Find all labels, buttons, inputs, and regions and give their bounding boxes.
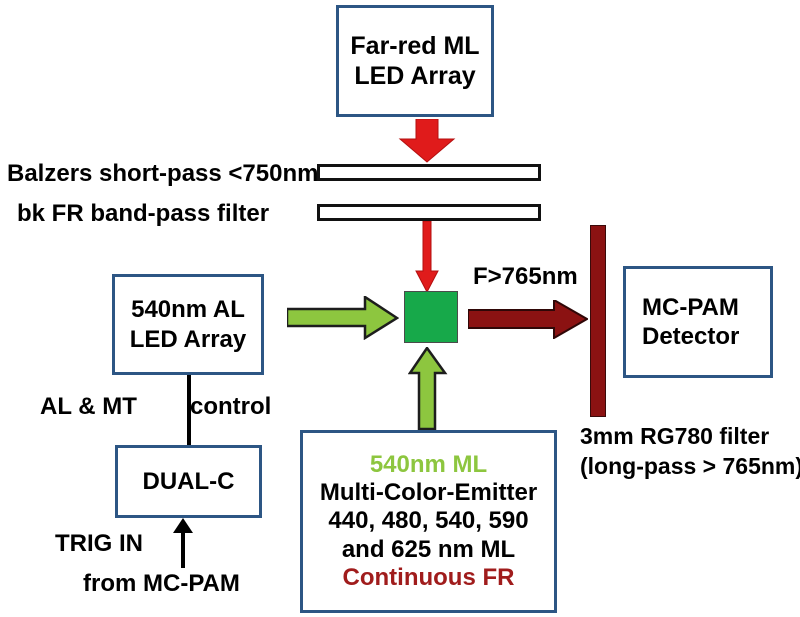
box-far-red-led-array-line2: LED Array: [354, 61, 475, 92]
box-multi-color-emitter-line3: 440, 480, 540, 590: [328, 507, 528, 535]
box-multi-color-emitter-line5: Continuous FR: [343, 564, 515, 592]
label-rg780-filter: 3mm RG780 filter (long-pass > 765nm): [580, 422, 800, 482]
box-multi-color-emitter: 540nm ML Multi-Color-Emitter 440, 480, 5…: [300, 430, 557, 613]
label-rg780-filter-line2: (long-pass > 765nm): [580, 452, 800, 482]
box-mc-pam-detector: MC-PAM Detector: [623, 266, 773, 378]
far-red-excitation-arrow-icon: [398, 119, 456, 163]
label-bk-fr-band-pass: bk FR band-pass filter: [17, 200, 269, 228]
far-red-filtered-arrow-icon: [414, 221, 440, 293]
box-far-red-led-array-line1: Far-red ML: [350, 31, 479, 62]
label-from-mc-pam: from MC-PAM: [83, 570, 240, 598]
multicolor-ml-arrow-icon: [408, 347, 448, 431]
filter-bar-bk-fr-band-pass: [317, 204, 541, 221]
box-far-red-led-array: Far-red ML LED Array: [336, 5, 494, 117]
box-mc-pam-detector-line2: Detector: [642, 322, 739, 351]
actinic-light-arrow-icon: [287, 296, 399, 340]
diagram-canvas: Far-red ML LED Array Balzers short-pass …: [0, 0, 800, 617]
label-rg780-filter-line1: 3mm RG780 filter: [580, 422, 800, 452]
sample-green-square: [404, 291, 458, 343]
label-f-765nm: F>765nm: [473, 263, 578, 291]
box-multi-color-emitter-line4: and 625 nm ML: [342, 536, 515, 564]
trigger-in-arrow-icon: [172, 518, 194, 568]
box-540nm-al-led-array: 540nm AL LED Array: [112, 274, 264, 375]
box-dual-c-line1: DUAL-C: [143, 467, 235, 496]
rg780-filter-slab: [590, 225, 606, 417]
box-multi-color-emitter-line1: 540nm ML: [370, 451, 487, 479]
box-multi-color-emitter-line2: Multi-Color-Emitter: [320, 479, 537, 507]
label-al-and-mt: AL & MT: [40, 393, 137, 421]
box-540nm-al-led-array-line2: LED Array: [130, 325, 246, 354]
connector-al-led-to-dual-c: [187, 375, 191, 445]
label-trig-in: TRIG IN: [55, 530, 143, 558]
box-dual-c: DUAL-C: [115, 445, 262, 518]
box-mc-pam-detector-line1: MC-PAM: [642, 293, 739, 322]
box-540nm-al-led-array-line1: 540nm AL: [131, 295, 245, 324]
label-control: control: [190, 393, 271, 421]
filter-bar-balzers-short-pass: [317, 164, 541, 181]
label-balzers-short-pass: Balzers short-pass <750nm: [7, 160, 318, 188]
fluorescence-emission-arrow-icon: [468, 300, 588, 339]
